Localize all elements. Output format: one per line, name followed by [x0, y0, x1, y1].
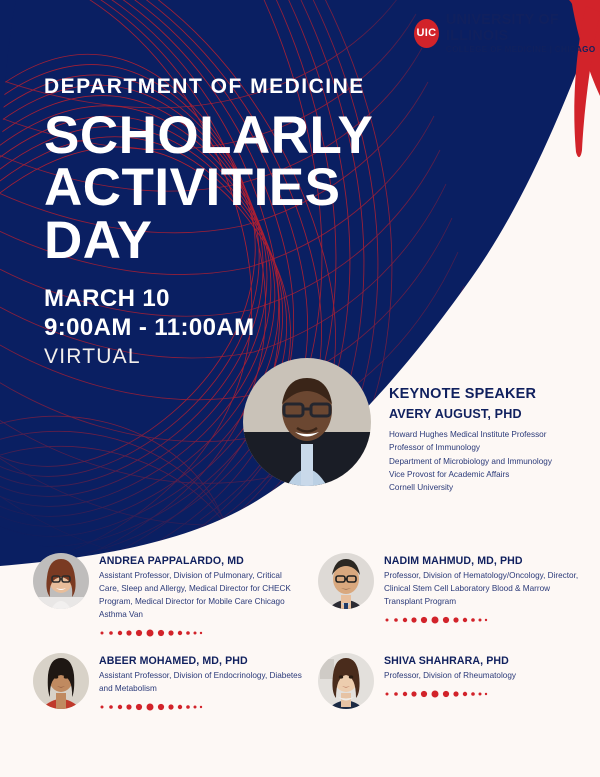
speaker-info: ABEER MOHAMED, MD, PHD Assistant Profess… [99, 653, 303, 712]
keynote-affiliation-line: Professor of Immunology [389, 441, 589, 454]
dot-divider [99, 628, 203, 638]
uic-logo-text: UNIVERSITY OF ILLINOIS COLLEGE OF MEDICI… [446, 12, 600, 55]
speaker-card: SHIVA SHAHRARA, PHD Professor, Division … [318, 653, 588, 709]
speaker-affiliation: Professor, Division of Rheumatology [384, 670, 516, 683]
speaker-name: NADIM MAHMUD, MD, PHD [384, 555, 588, 567]
keynote-speaker-photo [243, 358, 371, 486]
speaker-photo [33, 553, 89, 609]
uic-badge-icon: UIC [414, 19, 439, 48]
speaker-info: ANDREA PAPPALARDO, MD Assistant Professo… [99, 553, 303, 638]
speaker-info: SHIVA SHAHRARA, PHD Professor, Division … [384, 653, 516, 699]
speaker-info: NADIM MAHMUD, MD, PHD Professor, Divisio… [384, 553, 588, 625]
hero-block: DEPARTMENT OF MEDICINE SCHOLARLY ACTIVIT… [44, 76, 444, 369]
speaker-name: ABEER MOHAMED, MD, PHD [99, 655, 303, 667]
event-time: 9:00AM - 11:00AM [44, 314, 444, 342]
uic-logo: UIC UNIVERSITY OF ILLINOIS COLLEGE OF ME… [414, 12, 600, 55]
speaker-photo [318, 653, 374, 709]
keynote-affiliation-line: Howard Hughes Medical Institute Professo… [389, 428, 589, 441]
poster-title: SCHOLARLY ACTIVITIES DAY [44, 110, 444, 267]
keynote-affiliations: Howard Hughes Medical Institute Professo… [389, 428, 589, 494]
poster-canvas: UIC UNIVERSITY OF ILLINOIS COLLEGE OF ME… [0, 0, 600, 777]
event-date: MARCH 10 [44, 285, 444, 313]
event-datetime: MARCH 10 9:00AM - 11:00AM [44, 285, 444, 342]
speaker-photo [33, 653, 89, 709]
title-line-2: ACTIVITIES [44, 162, 444, 214]
speaker-name: SHIVA SHAHRARA, PHD [384, 655, 516, 667]
speaker-affiliation: Assistant Professor, Division of Endocri… [99, 670, 303, 696]
keynote-info: KEYNOTE SPEAKER AVERY AUGUST, PHD Howard… [389, 386, 589, 494]
speaker-name: ANDREA PAPPALARDO, MD [99, 555, 303, 567]
dot-divider [384, 689, 488, 699]
title-line-1: SCHOLARLY [44, 110, 444, 162]
title-line-3: DAY [44, 215, 444, 267]
speaker-affiliation: Professor, Division of Hematology/Oncolo… [384, 570, 588, 609]
speaker-affiliation: Assistant Professor, Division of Pulmona… [99, 570, 303, 622]
event-format: VIRTUAL [44, 344, 444, 369]
university-name: UNIVERSITY OF ILLINOIS [446, 12, 600, 44]
dot-divider [99, 702, 203, 712]
department-eyebrow: DEPARTMENT OF MEDICINE [44, 76, 444, 97]
speaker-photo [318, 553, 374, 609]
keynote-affiliation-line: Cornell University [389, 481, 589, 494]
keynote-affiliation-line: Vice Provost for Academic Affairs [389, 468, 589, 481]
dot-divider [384, 615, 488, 625]
keynote-name: AVERY AUGUST, PHD [389, 407, 589, 421]
speaker-card: ABEER MOHAMED, MD, PHD Assistant Profess… [33, 653, 303, 712]
college-name: COLLEGE OF MEDICINE | CHICAGO [446, 45, 600, 54]
speaker-card: ANDREA PAPPALARDO, MD Assistant Professo… [33, 553, 303, 638]
speaker-card: NADIM MAHMUD, MD, PHD Professor, Divisio… [318, 553, 588, 625]
keynote-label: KEYNOTE SPEAKER [389, 386, 589, 402]
keynote-affiliation-line: Department of Microbiology and Immunolog… [389, 455, 589, 468]
